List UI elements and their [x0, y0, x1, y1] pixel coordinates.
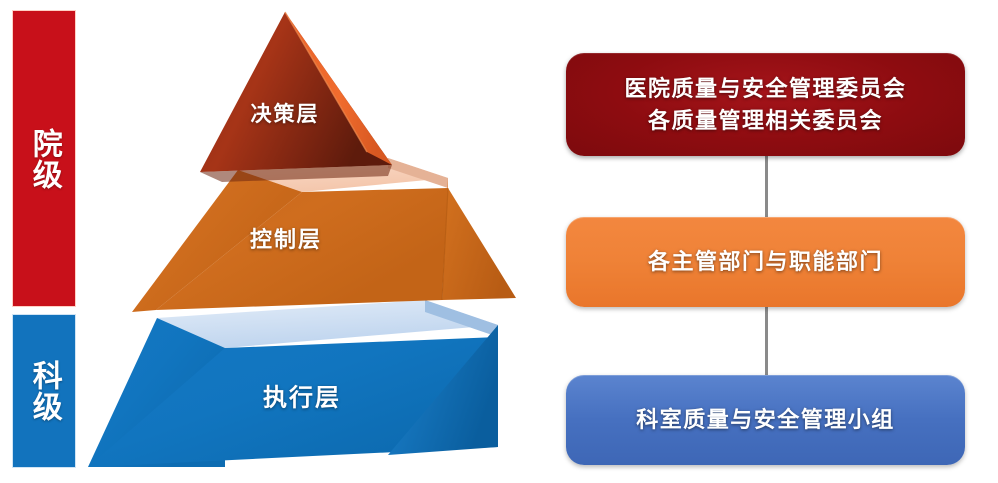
- node-box-departments[interactable]: 各主管部门与职能部门: [566, 217, 965, 307]
- pyramid-svg: [70, 0, 530, 483]
- node-box-committee-label: 医院质量与安全管理委员会 各质量管理相关委员会: [624, 73, 906, 135]
- pyramid-mid-right-face: [442, 178, 516, 300]
- pyramid-top-front-face: [200, 12, 392, 172]
- pyramid-graphic: 决策层 控制层 执行层: [70, 0, 530, 483]
- diagram-canvas: 院级 科级: [0, 0, 998, 483]
- level-bar-department-label: 科级: [28, 360, 60, 422]
- level-bar-hospital: 院级: [13, 11, 75, 306]
- node-box-committee[interactable]: 医院质量与安全管理委员会 各质量管理相关委员会: [566, 53, 965, 156]
- node-box-dept-group[interactable]: 科室质量与安全管理小组: [566, 375, 965, 465]
- node-box-departments-label: 各主管部门与职能部门: [648, 246, 883, 277]
- connector-committee-to-departments: [765, 150, 768, 222]
- level-bar-department: 科级: [13, 315, 75, 467]
- node-box-dept-group-label: 科室质量与安全管理小组: [636, 404, 895, 435]
- level-bar-hospital-label: 院级: [28, 128, 60, 190]
- connector-departments-to-dept-group: [765, 300, 768, 380]
